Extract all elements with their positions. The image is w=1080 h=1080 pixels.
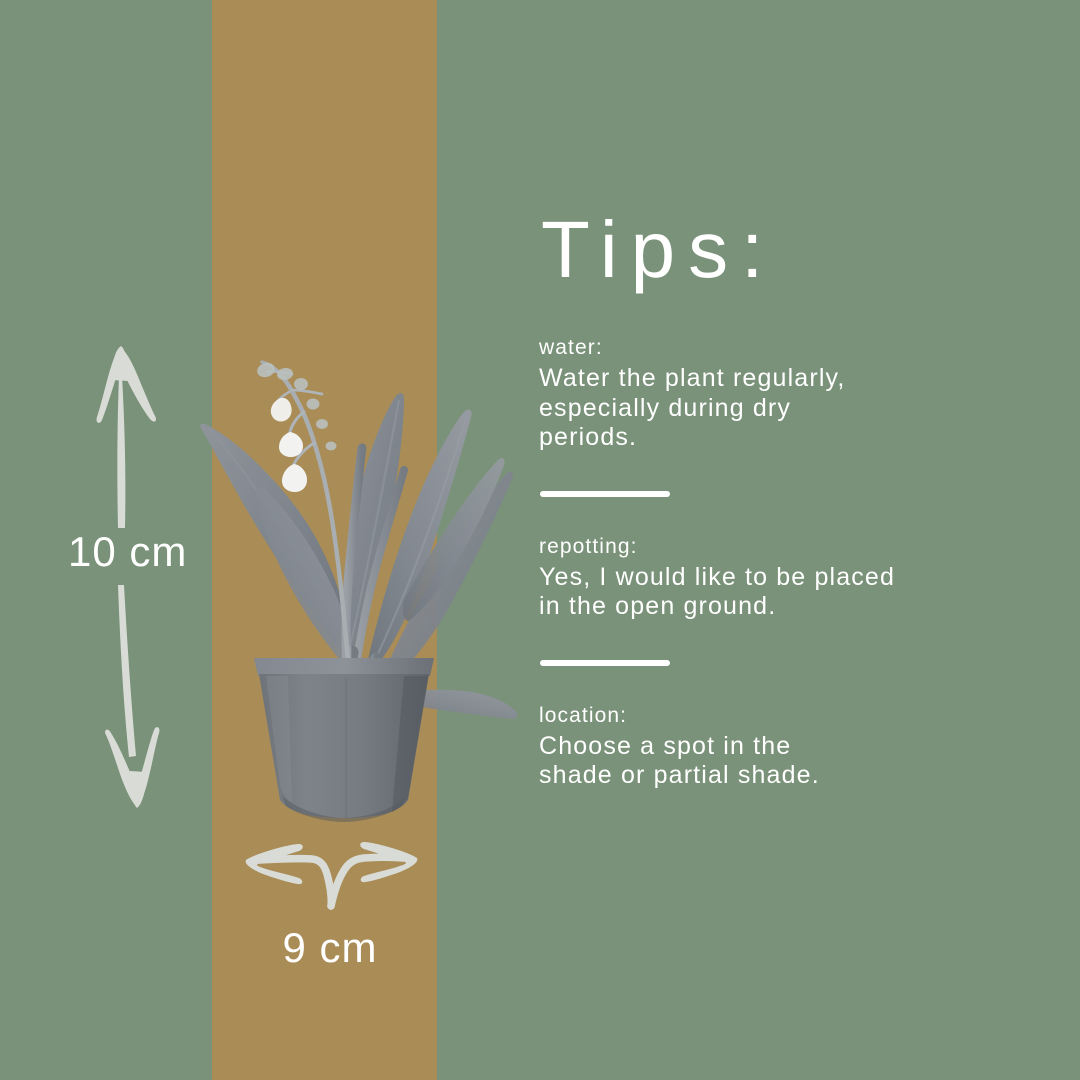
tip-body-water: Water the plant regularly, especially du… [539,364,1039,453]
tip-block-location: location: Choose a spot in the shade or … [539,702,1039,791]
section-divider-2 [540,660,670,666]
background-gold-band [212,0,437,1080]
tip-label-repotting: repotting: [539,533,1039,561]
width-measurement-label: 9 cm [230,924,430,972]
tip-label-water: water: [539,334,1039,362]
tip-label-location: location: [539,702,1039,730]
section-divider-1 [540,491,670,497]
tips-heading: Tips: [541,210,1039,290]
tip-block-repotting: repotting: Yes, I would like to be place… [539,533,1039,622]
tips-section: Tips: water: Water the plant regularly, … [539,210,1039,791]
tip-body-location: Choose a spot in the shade or partial sh… [539,732,1039,791]
tip-body-repotting: Yes, I would like to be placed in the op… [539,563,1039,622]
tip-block-water: water: Water the plant regularly, especi… [539,334,1039,453]
plant-care-poster: 10 cm 9 cm Tips: water: Water the plant … [0,0,1080,1080]
height-measurement-label: 10 cm [68,528,187,576]
